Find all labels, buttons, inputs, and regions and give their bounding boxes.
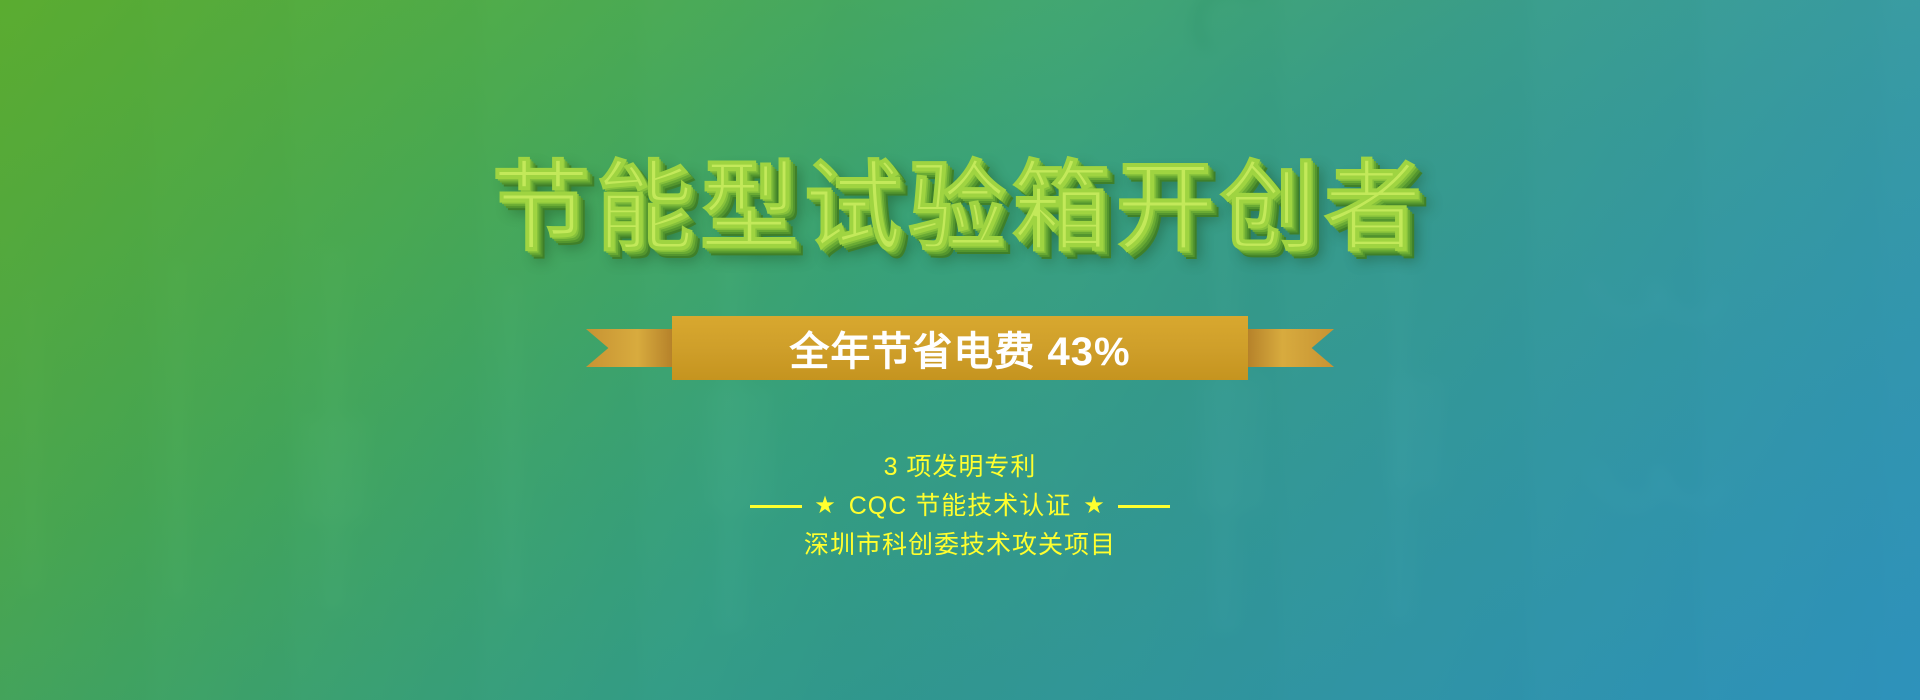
hero-banner: 节能型试验箱开创者 全年节省电费 43% 3 项发明专利 ★ CQC 节能技术认… [0, 0, 1920, 700]
banner-content: 节能型试验箱开创者 全年节省电费 43% 3 项发明专利 ★ CQC 节能技术认… [0, 0, 1920, 700]
savings-ribbon: 全年节省电费 43% [672, 316, 1248, 380]
credential-line-patents: 3 项发明专利 [884, 448, 1037, 487]
rule-left-icon [750, 505, 802, 508]
credentials-block: 3 项发明专利 ★ CQC 节能技术认证 ★ 深圳市科创委技术攻关项目 [750, 448, 1170, 564]
credential-line-certification: ★ CQC 节能技术认证 ★ [750, 487, 1170, 526]
ribbon-tail-left [586, 329, 672, 367]
credential-line-project: 深圳市科创委技术攻关项目 [804, 526, 1116, 565]
page-title: 节能型试验箱开创者 [492, 158, 1428, 256]
star-right-icon: ★ [1083, 494, 1106, 518]
credential-project-text: 深圳市科创委技术攻关项目 [804, 526, 1116, 565]
credential-patents-text: 3 项发明专利 [884, 448, 1037, 487]
star-left-icon: ★ [814, 494, 837, 518]
ribbon-tail-right [1248, 329, 1334, 367]
ribbon-label: 全年节省电费 43% [789, 319, 1130, 377]
credential-certification-text: CQC 节能技术认证 [849, 487, 1072, 526]
rule-right-icon [1118, 505, 1170, 508]
